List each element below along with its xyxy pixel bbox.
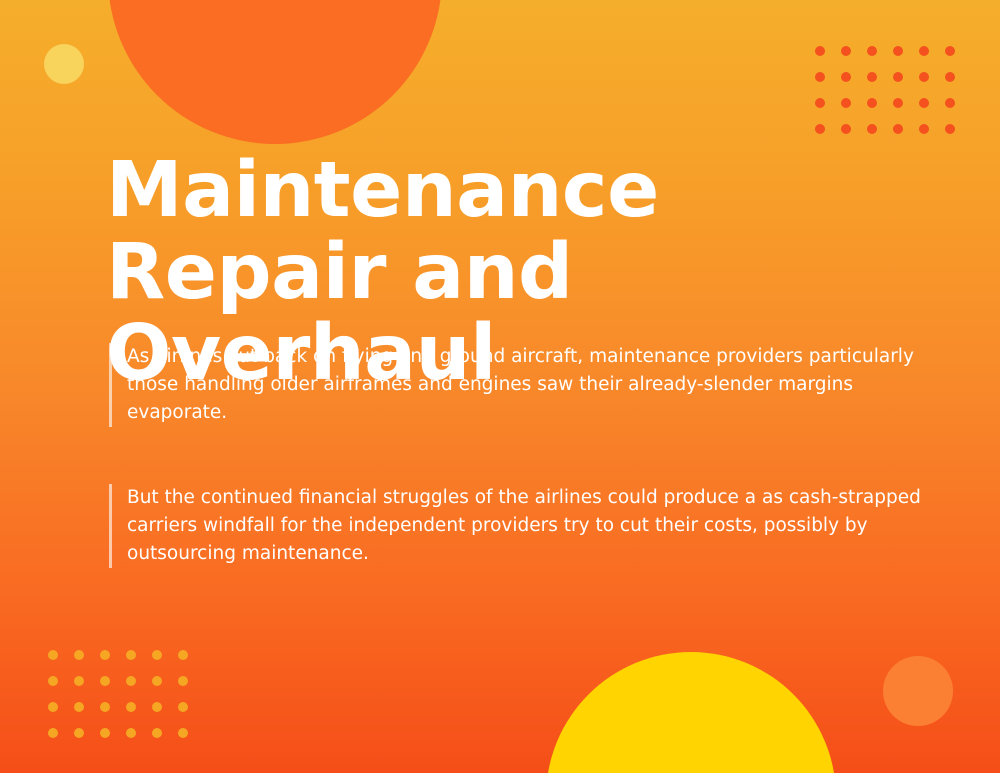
- paragraph-block-1: As airlines cut back on flying and groun…: [109, 343, 939, 427]
- accent-rule: [109, 343, 112, 427]
- slide-canvas: Maintenance Repair and Overhaul As airli…: [0, 0, 1000, 773]
- paragraph-text-1: As airlines cut back on flying and groun…: [127, 343, 939, 427]
- paragraph-block-2: But the continued financial struggles of…: [109, 484, 969, 568]
- slide-content: Maintenance Repair and Overhaul As airli…: [0, 0, 1000, 773]
- paragraph-text-2: But the continued financial struggles of…: [127, 484, 969, 568]
- accent-rule: [109, 484, 112, 568]
